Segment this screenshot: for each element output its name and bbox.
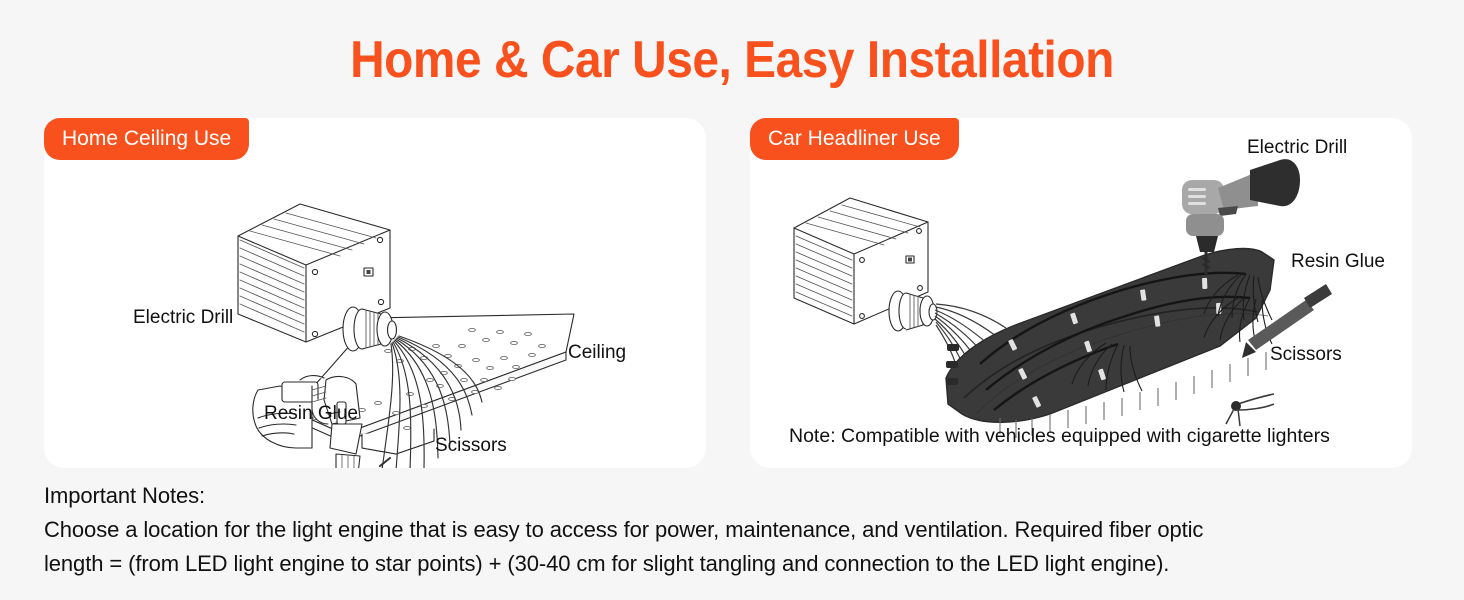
resin-glue-tube: [362, 458, 410, 468]
fiber-connector: [889, 291, 937, 331]
note-cigarette-lighter: Note: Compatible with vehicles equipped …: [789, 425, 1330, 448]
label-ceiling: Ceiling: [568, 342, 626, 364]
label-resin-glue-car: Resin Glue: [1291, 251, 1385, 273]
scissors-icon: [1226, 394, 1274, 426]
car-headliner-panel: [946, 249, 1274, 423]
important-notes-heading: Important Notes:: [44, 483, 1424, 509]
illustration-home-ceiling: [44, 118, 706, 468]
label-scissors-car: Scissors: [1270, 344, 1342, 366]
label-electric-drill-car: Electric Drill: [1247, 137, 1347, 159]
fiber-connector: [343, 307, 397, 351]
label-scissors-home: Scissors: [435, 435, 507, 457]
card-car-headliner-use: [750, 118, 1412, 468]
important-notes-line-1: Choose a location for the light engine t…: [44, 513, 1424, 547]
product-infographic: Home & Car Use, Easy Installation: [0, 0, 1464, 600]
illustration-car-headliner: [750, 118, 1412, 468]
label-electric-drill-home: Electric Drill: [133, 307, 233, 329]
badge-car-headliner-use: Car Headliner Use: [750, 118, 959, 160]
badge-home-ceiling-use: Home Ceiling Use: [44, 118, 249, 160]
label-resin-glue-home: Resin Glue: [264, 403, 358, 425]
page-title: Home & Car Use, Easy Installation: [59, 30, 1406, 90]
important-notes-line-2: length = (from LED light engine to star …: [44, 547, 1424, 581]
important-notes: Important Notes: Choose a location for t…: [44, 483, 1424, 581]
card-home-ceiling-use: [44, 118, 706, 468]
